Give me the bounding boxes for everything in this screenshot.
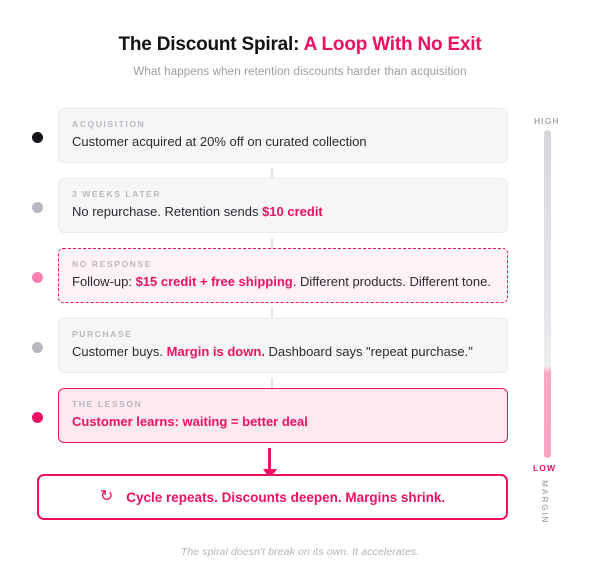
step-text-5-before: Customer learns: waiting = better deal (72, 414, 308, 429)
page-title: The Discount Spiral: A Loop With No Exit (0, 34, 600, 57)
timeline-dot-4 (32, 342, 43, 353)
page-subtitle: What happens when retention discounts ha… (0, 66, 600, 78)
timeline-step-1[interactable]: ACQUISITION Customer acquired at 20% off… (58, 108, 508, 163)
timeline-step-2[interactable]: 3 WEEKS LATER No repurchase. Retention s… (58, 178, 508, 233)
timeline-dot-5 (32, 412, 43, 423)
step-label-4: PURCHASE (72, 329, 494, 339)
gauge-bar (544, 130, 551, 458)
step-text-5: Customer learns: waiting = better deal (72, 414, 494, 431)
timeline-step-4[interactable]: PURCHASE Customer buys. Margin is down. … (58, 318, 508, 373)
step-text-3: Follow-up: $15 credit + free shipping. D… (72, 274, 494, 291)
step-text-4-highlight: Margin is down. (167, 344, 265, 359)
step-text-3-before: Follow-up: (72, 274, 136, 289)
gauge-axis-label: MARGIN (540, 480, 550, 524)
step-text-3-highlight: $15 credit + free shipping (136, 274, 293, 289)
timeline-flow: ACQUISITION Customer acquired at 20% off… (0, 108, 520, 528)
cycle-arrow (268, 448, 271, 470)
timeline-step-3[interactable]: NO RESPONSE Follow-up: $15 credit + free… (58, 248, 508, 303)
step-box-4: PURCHASE Customer buys. Margin is down. … (58, 318, 508, 373)
step-label-1: ACQUISITION (72, 119, 494, 129)
step-text-4-before: Customer buys. (72, 344, 167, 359)
step-text-4-after: Dashboard says "repeat purchase." (265, 344, 473, 359)
step-text-1: Customer acquired at 20% off on curated … (72, 134, 494, 151)
step-box-5: THE LESSON Customer learns: waiting = be… (58, 388, 508, 443)
step-box-1: ACQUISITION Customer acquired at 20% off… (58, 108, 508, 163)
step-label-5: THE LESSON (72, 399, 494, 409)
step-text-3-after: . Different products. Different tone. (293, 274, 491, 289)
timeline-dot-1 (32, 132, 43, 143)
step-box-2: 3 WEEKS LATER No repurchase. Retention s… (58, 178, 508, 233)
footer-note: The spiral doesn't break on its own. It … (0, 546, 600, 558)
step-text-1-before: Customer acquired at 20% off on curated … (72, 134, 367, 149)
timeline-dot-2 (32, 202, 43, 213)
step-label-3: NO RESPONSE (72, 259, 494, 269)
margin-gauge: HIGH LOW MARGIN (528, 108, 588, 538)
page-title-accent: A Loop With No Exit (304, 34, 482, 55)
step-box-3: NO RESPONSE Follow-up: $15 credit + free… (58, 248, 508, 303)
gauge-low-label: LOW (533, 463, 556, 473)
step-text-2: No repurchase. Retention sends $10 credi… (72, 204, 494, 221)
timeline-dot-3 (32, 272, 43, 283)
cycle-banner-text: Cycle repeats. Discounts deepen. Margins… (126, 490, 445, 505)
cycle-refresh-icon: ↻ (100, 489, 113, 505)
cycle-banner[interactable]: ↻ Cycle repeats. Discounts deepen. Margi… (37, 474, 508, 520)
timeline-step-5[interactable]: THE LESSON Customer learns: waiting = be… (58, 388, 508, 443)
gauge-high-label: HIGH (534, 116, 560, 126)
step-text-2-before: No repurchase. Retention sends (72, 204, 262, 219)
step-text-2-highlight: $10 credit (262, 204, 323, 219)
page-header: The Discount Spiral: A Loop With No Exit… (0, 0, 600, 78)
step-text-4: Customer buys. Margin is down. Dashboard… (72, 344, 494, 361)
step-label-2: 3 WEEKS LATER (72, 189, 494, 199)
page-title-main: The Discount Spiral: (118, 34, 299, 55)
